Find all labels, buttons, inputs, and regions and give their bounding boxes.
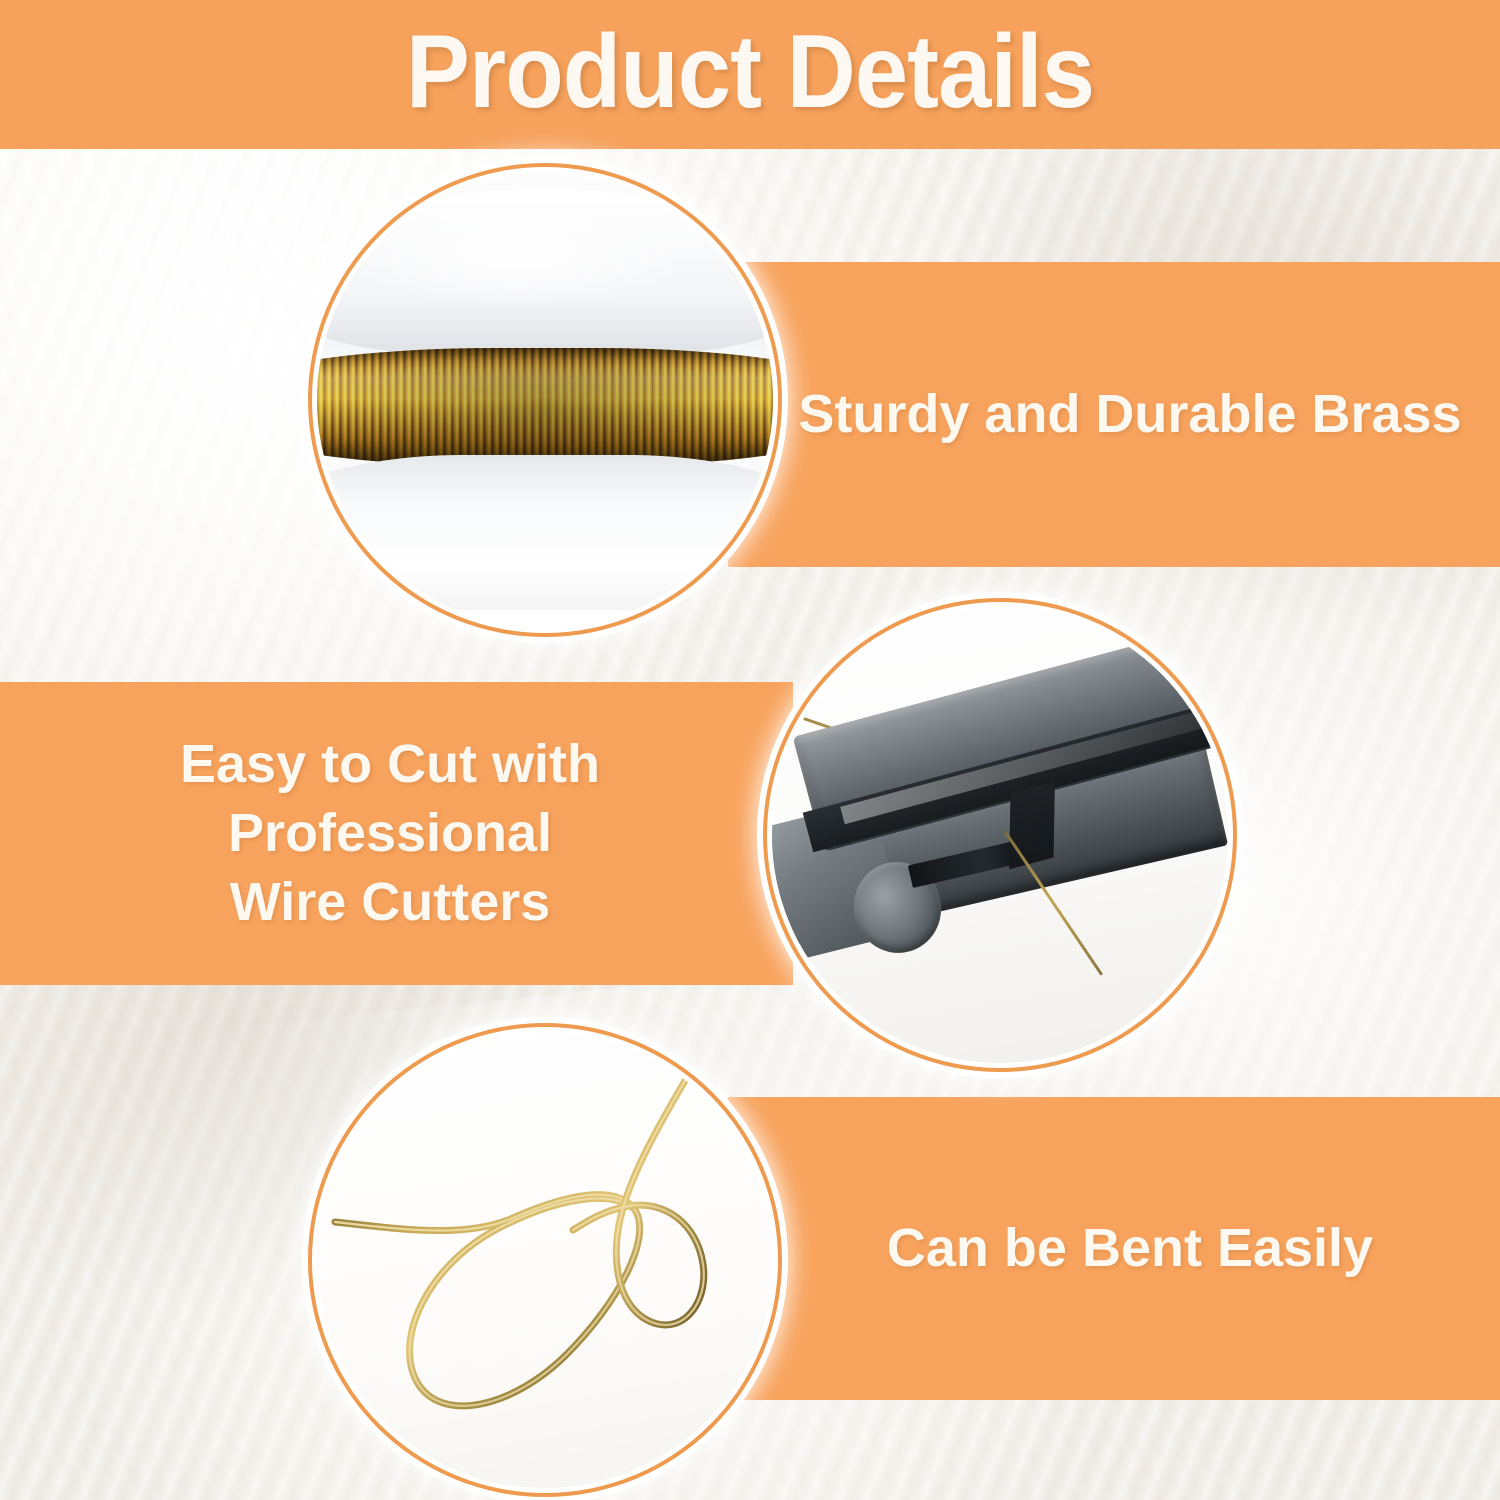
feature-image-bent-wire <box>317 1032 773 1488</box>
plier-jaw-notch <box>1009 782 1054 870</box>
feature-label-sturdy-durable-brass: Sturdy and Durable Brass <box>780 262 1480 567</box>
product-details-infographic: Product Details <box>0 0 1500 1500</box>
feature-image-wire-cutters <box>772 607 1228 1063</box>
brass-wire-spool-photo <box>317 172 773 628</box>
spool-lower-flange <box>317 455 773 610</box>
wire-cutter-pliers-photo <box>772 607 1228 1063</box>
spool-highlight <box>344 208 691 308</box>
feature-label-easy-to-cut: Easy to Cut with Professional Wire Cutte… <box>20 682 760 985</box>
bent-brass-wire-photo <box>317 1032 773 1488</box>
page-title: Product Details <box>60 0 1440 149</box>
feature-label-bent-easily: Can be Bent Easily <box>800 1097 1460 1400</box>
bent-wire-drawing <box>317 1032 773 1488</box>
feature-image-brass-wire-spool <box>317 172 773 628</box>
brass-wire-shading <box>317 348 773 467</box>
